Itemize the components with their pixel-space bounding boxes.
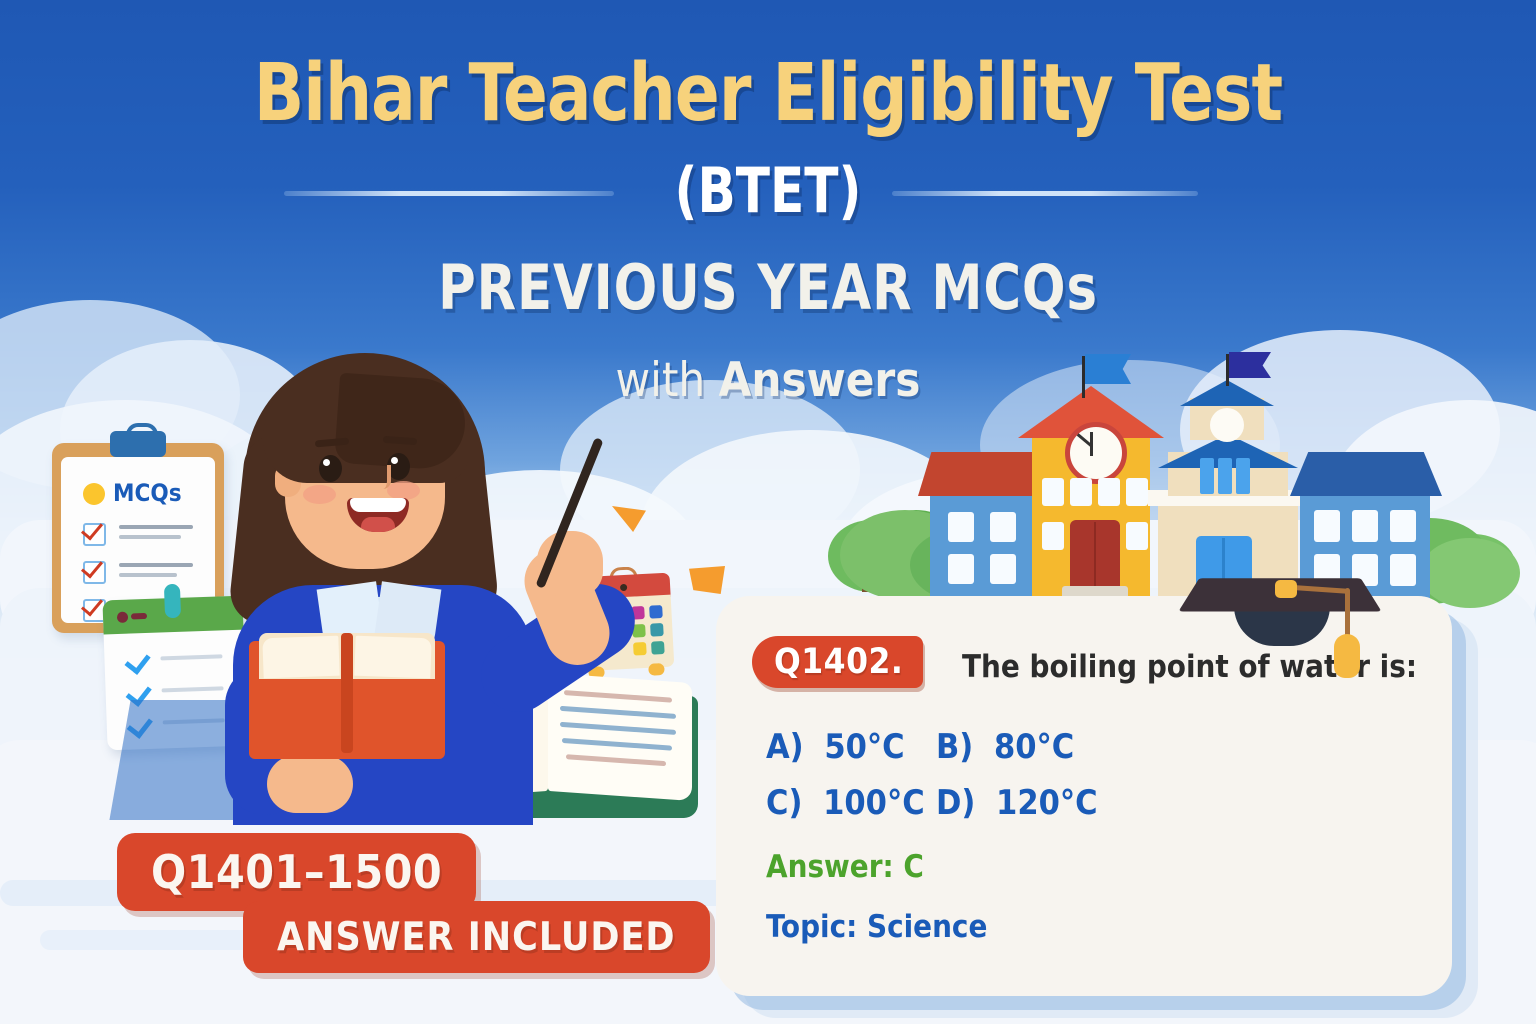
option-row: C) 100°C D) 120°C bbox=[766, 782, 1406, 824]
tongue bbox=[361, 517, 395, 532]
option-b-label: B) bbox=[936, 727, 973, 767]
flagpole bbox=[1082, 356, 1085, 398]
option-b[interactable]: B) 80°C bbox=[936, 726, 1074, 768]
teeth bbox=[350, 498, 406, 512]
confetti-shape bbox=[689, 566, 725, 594]
window bbox=[948, 554, 974, 584]
red-book bbox=[249, 633, 445, 759]
window bbox=[1098, 478, 1120, 506]
option-c-label: C) bbox=[766, 783, 802, 823]
door-split bbox=[1094, 522, 1096, 590]
window bbox=[1390, 554, 1416, 586]
window bbox=[1236, 458, 1250, 494]
window bbox=[1126, 522, 1148, 550]
window bbox=[1070, 478, 1092, 506]
cap-cord-drop bbox=[1345, 588, 1350, 638]
cap-button bbox=[1275, 580, 1297, 598]
option-a[interactable]: A) 50°C bbox=[766, 726, 936, 768]
book-page-right bbox=[354, 636, 431, 679]
title-subtitle: PREVIOUS YEAR MCQs bbox=[61, 252, 1474, 324]
page-title: Bihar Teacher Eligibility Test bbox=[54, 50, 1482, 136]
window bbox=[1314, 510, 1340, 542]
option-row: A) 50°C B) 80°C bbox=[766, 726, 1406, 768]
answer-included-badge: ANSWER INCLUDED bbox=[243, 901, 710, 973]
question-range-badge: Q1401–1500 bbox=[117, 833, 476, 911]
list-line bbox=[119, 525, 193, 529]
answer-text: Answer: C bbox=[766, 848, 924, 886]
pin-tail-icon bbox=[131, 613, 147, 620]
question-number-label: Q1402. bbox=[774, 642, 903, 682]
bush bbox=[1420, 538, 1520, 608]
list-line bbox=[119, 563, 193, 567]
check-icon bbox=[124, 648, 150, 675]
book-page-left bbox=[262, 636, 339, 679]
option-b-value: 80°C bbox=[994, 727, 1074, 767]
eye-glint bbox=[323, 459, 330, 466]
option-d[interactable]: D) 120°C bbox=[936, 782, 1098, 824]
cheek-left bbox=[303, 485, 336, 504]
mcqs-label: MCQs bbox=[113, 479, 182, 507]
checkbox-checked-icon bbox=[83, 561, 106, 584]
checklist-knob bbox=[164, 584, 181, 619]
checkbox-checked-icon bbox=[83, 523, 106, 546]
clipboard-clip bbox=[110, 431, 166, 457]
flag-navy bbox=[1229, 352, 1271, 378]
hand-left bbox=[267, 755, 353, 813]
bell-tower-clock bbox=[1210, 408, 1244, 442]
book-spine bbox=[341, 633, 353, 753]
building-right-roof bbox=[1290, 452, 1442, 496]
window bbox=[990, 554, 1016, 584]
clock-face bbox=[1065, 422, 1127, 484]
flag-blue bbox=[1085, 354, 1131, 384]
window bbox=[1218, 458, 1232, 494]
eye-left bbox=[319, 455, 342, 482]
option-d-value: 120°C bbox=[996, 783, 1098, 823]
building-left bbox=[930, 492, 1040, 602]
title-with-bold: Answers bbox=[719, 353, 921, 408]
option-a-value: 50°C bbox=[824, 727, 904, 767]
school-buildings-illustration bbox=[900, 352, 1460, 602]
option-a-label: A) bbox=[766, 727, 804, 767]
topic-text: Topic: Science bbox=[766, 908, 987, 946]
list-line bbox=[119, 573, 177, 577]
teacher-illustration bbox=[215, 335, 685, 815]
option-c-value: 100°C bbox=[823, 783, 925, 823]
window bbox=[1042, 522, 1064, 550]
bullet-dot-icon bbox=[83, 483, 105, 505]
window bbox=[1200, 458, 1214, 494]
option-d-label: D) bbox=[936, 783, 975, 823]
title-abbreviation: (BTET) bbox=[77, 155, 1459, 227]
window bbox=[1042, 478, 1064, 506]
answer-included-label: ANSWER INCLUDED bbox=[277, 915, 676, 960]
window bbox=[1390, 510, 1416, 542]
question-range-label: Q1401–1500 bbox=[151, 845, 442, 899]
option-c[interactable]: C) 100°C bbox=[766, 782, 936, 824]
window bbox=[1352, 510, 1378, 542]
question-number-badge: Q1402. bbox=[752, 636, 923, 688]
window bbox=[990, 512, 1016, 542]
poster-canvas: Bihar Teacher Eligibility Test (BTET) PR… bbox=[0, 0, 1536, 1024]
window bbox=[1126, 478, 1148, 506]
window bbox=[948, 512, 974, 542]
list-line bbox=[160, 654, 222, 660]
flagpole bbox=[1226, 354, 1229, 386]
graduation-cap-icon bbox=[1190, 556, 1370, 666]
list-line bbox=[119, 535, 181, 539]
eye-glint bbox=[391, 457, 398, 464]
cap-tassel bbox=[1334, 634, 1360, 678]
